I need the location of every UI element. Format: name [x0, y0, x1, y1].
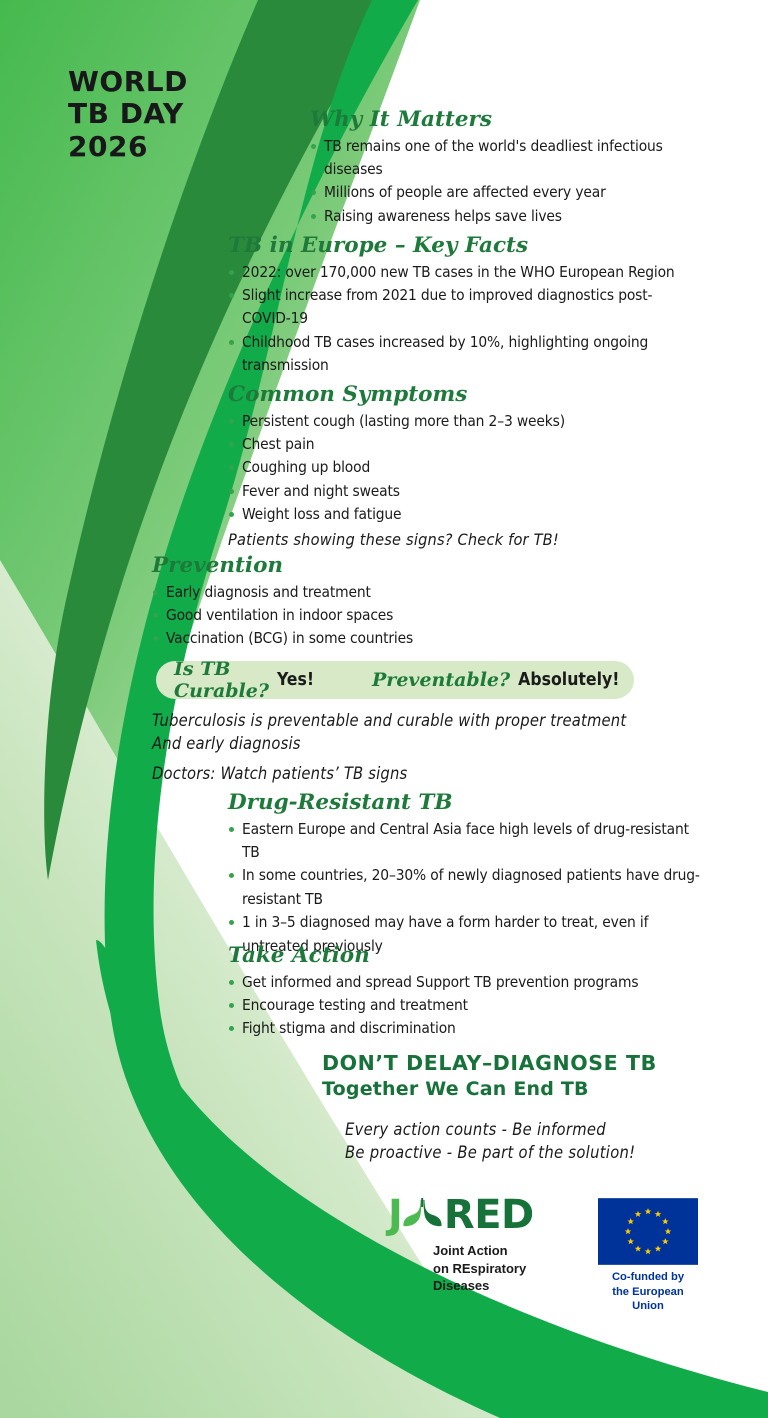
tagline-line-2: Be proactive - Be part of the solution! [345, 1141, 635, 1164]
list-item: Raising awareness helps save lives [310, 205, 710, 228]
list-item: TB remains one of the world's deadliest … [310, 135, 710, 182]
list-item: Get informed and spread Support TB preve… [228, 971, 678, 994]
list-item: 2022: over 170,000 new TB cases in the W… [228, 261, 700, 284]
section-heading: Prevention [152, 554, 552, 578]
title-line-1: WORLD [68, 66, 188, 98]
section-why-it-matters: Why It Matters TB remains one of the wor… [310, 108, 710, 228]
jared-subtitle: Joint Action on REspiratory Diseases [433, 1242, 553, 1295]
closing-call-to-action: DON’T DELAY–DIAGNOSE TB Together We Can … [322, 1051, 657, 1101]
list-item: Eastern Europe and Central Asia face hig… [228, 818, 706, 865]
banner-question-curable: Is TB Curable? [174, 658, 269, 702]
list-item: Fever and night sweats [228, 480, 648, 503]
section-heading: Why It Matters [310, 108, 710, 132]
eu-flag-icon [598, 1198, 698, 1265]
statement-block: Tuberculosis is preventable and curable … [152, 710, 712, 786]
statement-line-1: Tuberculosis is preventable and curable … [152, 710, 712, 733]
lungs-icon [401, 1196, 443, 1235]
bullet-list: Early diagnosis and treatment Good venti… [152, 581, 552, 651]
section-heading: Take Action [228, 944, 678, 968]
section-drug-resistant-tb: Drug-Resistant TB Eastern Europe and Cen… [228, 791, 706, 958]
eu-caption-line-2: the European Union [598, 1285, 698, 1314]
statement-line-2: And early diagnosis [152, 733, 712, 756]
jared-wordmark: J RED [388, 1193, 553, 1237]
list-item: Encourage testing and treatment [228, 994, 678, 1017]
section-common-symptoms: Common Symptoms Persistent cough (lastin… [228, 383, 648, 552]
jared-logo: J RED Joint Action on REspiratory Diseas… [388, 1193, 553, 1295]
list-item: Vaccination (BCG) in some countries [152, 627, 552, 650]
jared-subtitle-line-1: Joint Action [433, 1242, 553, 1260]
closing-line-1: DON’T DELAY–DIAGNOSE TB [322, 1051, 657, 1077]
banner-answer-curable: Yes! [277, 670, 314, 690]
bullet-list: Eastern Europe and Central Asia face hig… [228, 818, 706, 958]
section-prevention: Prevention Early diagnosis and treatment… [152, 554, 552, 651]
list-item: Fight stigma and discrimination [228, 1017, 678, 1040]
tagline-line-1: Every action counts - Be informed [345, 1118, 635, 1141]
closing-tagline: Every action counts - Be informed Be pro… [345, 1118, 635, 1165]
section-heading: Drug-Resistant TB [228, 791, 706, 815]
list-item: Persistent cough (lasting more than 2–3 … [228, 410, 648, 433]
eu-caption-line-1: Co-funded by [598, 1270, 698, 1285]
list-item: Chest pain [228, 433, 648, 456]
title-line-3: 2026 [68, 131, 188, 163]
eu-caption: Co-funded by the European Union [598, 1270, 698, 1314]
statement-spacer [152, 755, 712, 763]
list-item: In some countries, 20–30% of newly diagn… [228, 864, 706, 911]
list-item: Weight loss and fatigue [228, 503, 648, 526]
bullet-list: Persistent cough (lasting more than 2–3 … [228, 410, 648, 527]
section-tb-in-europe: TB in Europe – Key Facts 2022: over 170,… [228, 234, 700, 378]
jared-subtitle-line-2: on REspiratory [433, 1260, 553, 1278]
symptoms-note: Patients showing these signs? Check for … [228, 528, 648, 552]
section-take-action: Take Action Get informed and spread Supp… [228, 944, 678, 1041]
list-item: Millions of people are affected every ye… [310, 181, 710, 204]
section-heading: Common Symptoms [228, 383, 648, 407]
curable-banner: Is TB Curable? Yes! Preventable? Absolut… [156, 661, 634, 699]
statement-line-3: Doctors: Watch patients’ TB signs [152, 763, 712, 786]
poster-canvas: WORLD TB DAY 2026 Why It Matters TB rema… [0, 0, 768, 1418]
title-line-2: TB DAY [68, 98, 188, 130]
banner-answer-preventable: Absolutely! [518, 670, 619, 690]
list-item: Slight increase from 2021 due to improve… [228, 284, 700, 331]
list-item: Early diagnosis and treatment [152, 581, 552, 604]
banner-question-preventable: Preventable? [372, 669, 510, 691]
list-item: Good ventilation in indoor spaces [152, 604, 552, 627]
eu-funding-logo: Co-funded by the European Union [598, 1198, 698, 1314]
bullet-list: 2022: over 170,000 new TB cases in the W… [228, 261, 700, 378]
list-item: Childhood TB cases increased by 10%, hig… [228, 331, 700, 378]
bullet-list: TB remains one of the world's deadliest … [310, 135, 710, 229]
list-item: Coughing up blood [228, 456, 648, 479]
jared-subtitle-line-3: Diseases [433, 1277, 553, 1295]
jared-letters-red: RED [444, 1195, 534, 1235]
page-title: WORLD TB DAY 2026 [68, 66, 188, 163]
bullet-list: Get informed and spread Support TB preve… [228, 971, 678, 1041]
closing-line-2: Together We Can End TB [322, 1077, 657, 1102]
section-heading: TB in Europe – Key Facts [228, 234, 700, 258]
